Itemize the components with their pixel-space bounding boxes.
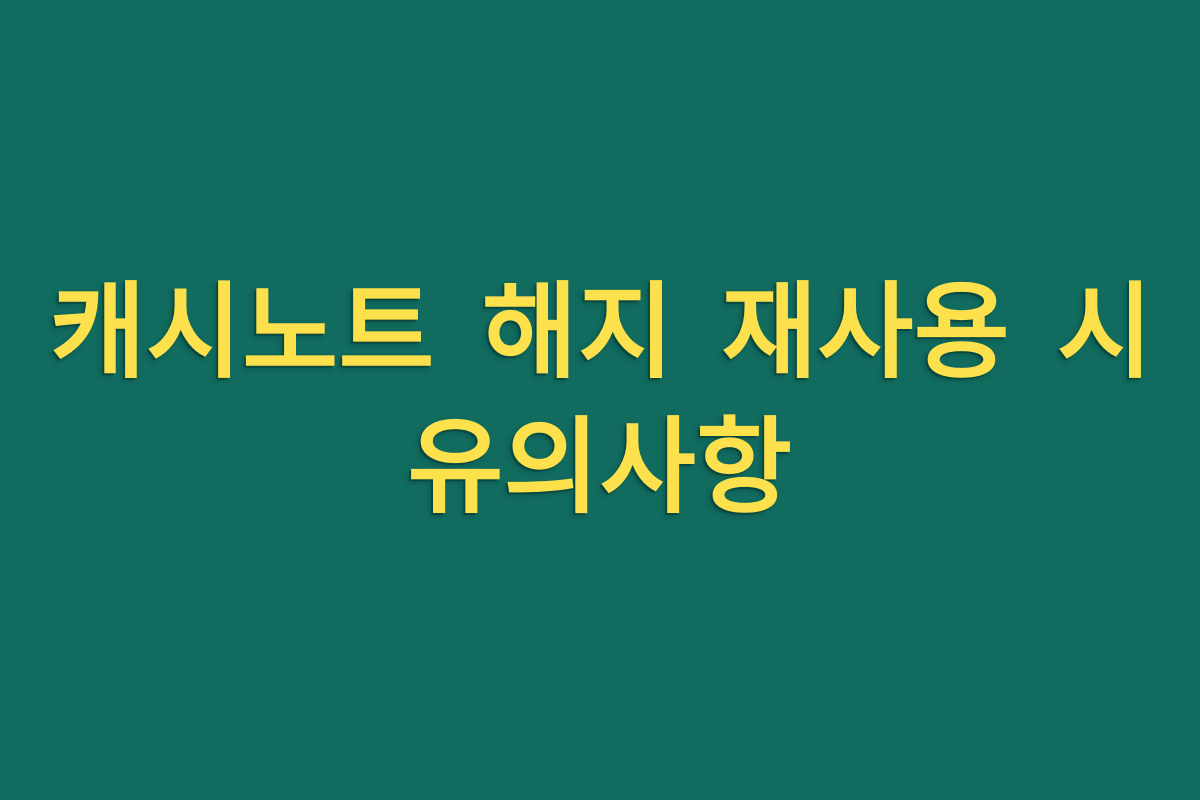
headline-line-2: 유의사항 <box>50 401 1150 534</box>
banner-canvas: 캐시노트 해지 재사용 시 유의사항 <box>0 0 1200 800</box>
page-title: 캐시노트 해지 재사용 시 유의사항 <box>50 266 1150 534</box>
headline-line-1: 캐시노트 해지 재사용 시 <box>50 266 1150 399</box>
